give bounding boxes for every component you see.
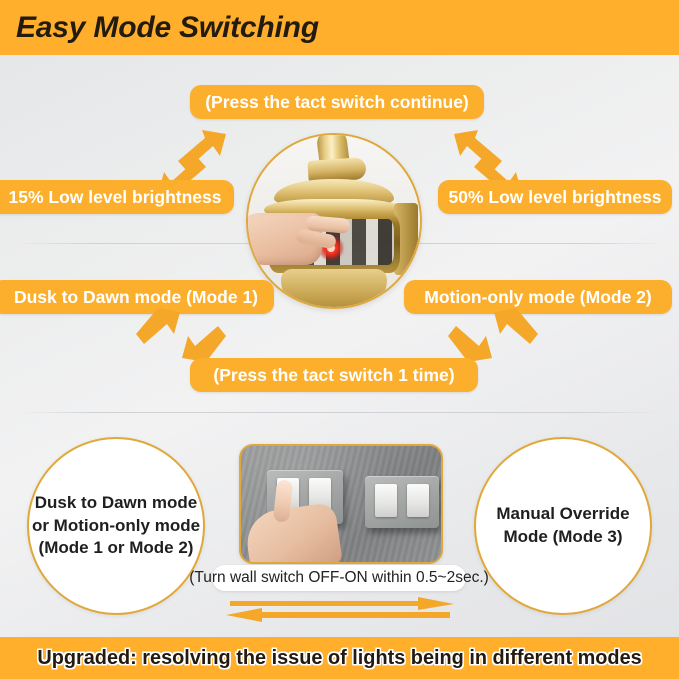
left-circle-line-2: or Motion-only mode	[32, 515, 200, 538]
left-circle-line-3: (Mode 1 or Mode 2)	[32, 537, 200, 560]
left-circle-line-1: Dusk to Dawn mode	[32, 492, 200, 515]
label-motion-only-mode-2: Motion-only mode (Mode 2)	[404, 280, 672, 314]
header-banner: Easy Mode Switching	[0, 0, 679, 55]
wall-switch-photo	[239, 444, 443, 564]
footer-banner: Upgraded: resolving the issue of lights …	[0, 637, 679, 679]
product-photo-lamp-tact-switch	[246, 133, 422, 309]
right-circle-line-1: Manual Override	[496, 503, 629, 526]
label-dusk-to-dawn-mode-1: Dusk to Dawn mode (Mode 1)	[0, 280, 274, 314]
label-press-tact-switch-continue: (Press the tact switch continue)	[190, 85, 484, 119]
divider-lower	[18, 412, 661, 413]
product-infographic: Easy Mode Switching (Press the tact swit…	[0, 0, 679, 679]
wall-switch-plate-right	[365, 476, 439, 528]
info-circle-manual-override-mode-3: Manual Override Mode (Mode 3)	[474, 437, 652, 615]
label-press-tact-switch-1-time: (Press the tact switch 1 time)	[190, 358, 478, 392]
info-circle-mode-1-or-2: Dusk to Dawn mode or Motion-only mode (M…	[27, 437, 205, 615]
right-circle-line-2: Mode (Mode 3)	[496, 526, 629, 549]
label-50-percent-brightness: 50% Low level brightness	[438, 180, 672, 214]
page-title: Easy Mode Switching	[16, 11, 319, 45]
caption-turn-wall-switch: (Turn wall switch OFF-ON within 0.5~2sec…	[212, 565, 466, 591]
label-15-percent-brightness: 15% Low level brightness	[0, 180, 234, 214]
double-headed-horizontal-arrows	[222, 597, 458, 623]
footer-text: Upgraded: resolving the issue of lights …	[37, 646, 641, 670]
